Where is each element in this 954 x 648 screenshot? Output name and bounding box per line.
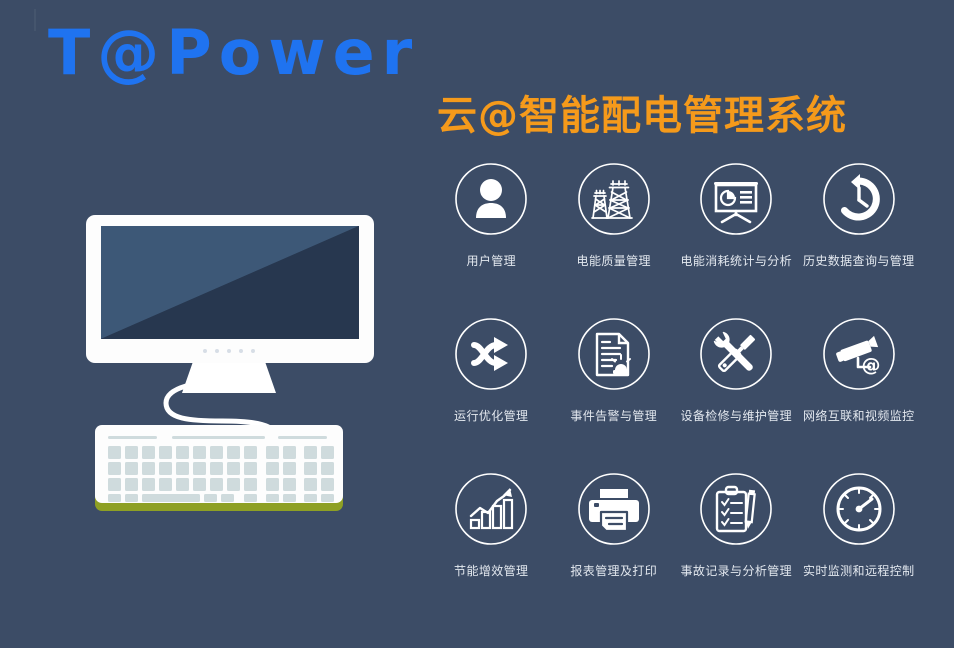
feature-label: 报表管理及打印 [570,562,657,579]
feature-item-event-alarm[interactable]: 事件告警与管理 [553,315,676,470]
printer-icon [575,470,653,548]
feature-item-maintenance[interactable]: 设备检修与维护管理 [675,315,798,470]
feature-label: 历史数据查询与管理 [803,252,915,269]
feature-item-realtime-monitor[interactable]: 实时监测和远程控制 [798,470,921,625]
poster-canvas: T@Power 云@智能配电管理系统 [0,0,954,648]
feature-label: 电能消耗统计与分析 [680,252,792,269]
background-artifact [34,9,36,31]
desktop-computer-illustration [80,205,380,540]
feature-label: 设备检修与维护管理 [680,407,792,424]
gauge-icon [820,470,898,548]
feature-item-accident-record[interactable]: 事故记录与分析管理 [675,470,798,625]
document-alarm-icon [575,315,653,393]
feature-item-energy-saving[interactable]: 节能增效管理 [430,470,553,625]
clipboard-pen-icon [697,470,775,548]
user-icon [452,160,530,238]
feature-label: 事件告警与管理 [570,407,657,424]
power-tower-icon [575,160,653,238]
feature-item-operation-optimization[interactable]: 运行优化管理 [430,315,553,470]
feature-label: 网络互联和视频监控 [803,407,915,424]
feature-label: 事故记录与分析管理 [680,562,792,579]
feature-item-report-print[interactable]: 报表管理及打印 [553,470,676,625]
security-camera-at-icon: @ [820,315,898,393]
feature-label: 用户管理 [466,252,516,269]
growth-bar-chart-icon [452,470,530,548]
feature-item-consumption-analysis[interactable]: 电能消耗统计与分析 [675,160,798,315]
history-clock-icon [820,160,898,238]
feature-label: 节能增效管理 [454,562,528,579]
shuffle-arrows-icon [452,315,530,393]
feature-item-user-management[interactable]: 用户管理 [430,160,553,315]
presentation-chart-icon [697,160,775,238]
feature-label: 实时监测和远程控制 [803,562,915,579]
svg-text:@: @ [861,354,880,376]
feature-grid: 用户管理 [430,160,920,625]
monitor-screen [101,226,359,339]
brand-wordmark: T@Power [48,22,419,84]
feature-label: 运行优化管理 [454,407,528,424]
wrench-screwdriver-icon [697,315,775,393]
feature-label: 电能质量管理 [577,252,651,269]
feature-item-power-quality[interactable]: 电能质量管理 [553,160,676,315]
keyboard [95,425,343,511]
feature-item-network-video[interactable]: @ 网络互联和视频监控 [798,315,921,470]
feature-item-history-data[interactable]: 历史数据查询与管理 [798,160,921,315]
brand-subtitle: 云@智能配电管理系统 [437,96,847,136]
